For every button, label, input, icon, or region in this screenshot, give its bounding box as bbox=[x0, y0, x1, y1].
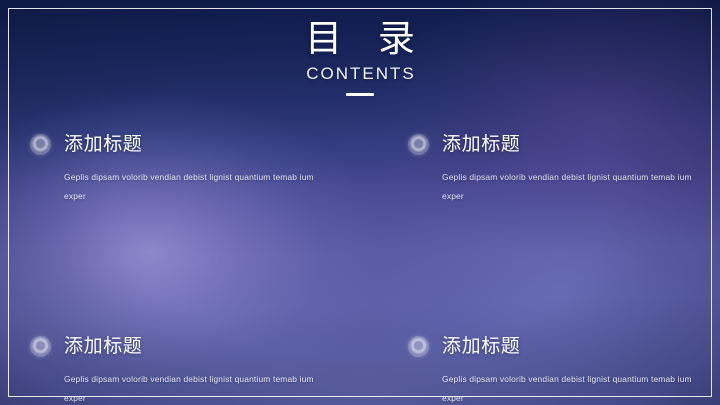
contents-row-1: 添加标题 Geplis dipsam volorib vendian debis… bbox=[0, 131, 720, 206]
contents-item-3[interactable]: 添加标题 Geplis dipsam volorib vendian debis… bbox=[0, 333, 360, 405]
contents-item-4-head: 添加标题 bbox=[408, 333, 720, 359]
slide-header: 目 录 CONTENTS bbox=[0, 17, 720, 96]
contents-item-4[interactable]: 添加标题 Geplis dipsam volorib vendian debis… bbox=[360, 333, 720, 405]
contents-grid: 添加标题 Geplis dipsam volorib vendian debis… bbox=[0, 131, 720, 405]
contents-item-3-title: 添加标题 bbox=[64, 333, 142, 359]
contents-item-4-title: 添加标题 bbox=[442, 333, 520, 359]
contents-item-2-body: Geplis dipsam volorib vendian debist lig… bbox=[442, 168, 692, 206]
contents-slide: 目 录 CONTENTS 添加标题 Geplis dipsam volorib … bbox=[0, 0, 720, 405]
ring-circle-icon bbox=[408, 134, 429, 155]
ring-circle-icon bbox=[30, 134, 51, 155]
ring-circle-icon bbox=[30, 336, 51, 357]
page-title-english: CONTENTS bbox=[0, 63, 720, 84]
contents-item-2[interactable]: 添加标题 Geplis dipsam volorib vendian debis… bbox=[360, 131, 720, 206]
contents-item-3-head: 添加标题 bbox=[30, 333, 360, 359]
contents-item-4-body: Geplis dipsam volorib vendian debist lig… bbox=[442, 370, 692, 405]
contents-item-1[interactable]: 添加标题 Geplis dipsam volorib vendian debis… bbox=[0, 131, 360, 206]
contents-item-3-body: Geplis dipsam volorib vendian debist lig… bbox=[64, 370, 314, 405]
page-title-chinese: 目 录 bbox=[0, 17, 720, 60]
contents-item-2-title: 添加标题 bbox=[442, 131, 520, 157]
contents-item-1-title: 添加标题 bbox=[64, 131, 142, 157]
contents-item-2-head: 添加标题 bbox=[408, 131, 720, 157]
contents-item-1-body: Geplis dipsam volorib vendian debist lig… bbox=[64, 168, 314, 206]
title-divider-rule bbox=[346, 93, 374, 96]
ring-circle-icon bbox=[408, 336, 429, 357]
contents-item-1-head: 添加标题 bbox=[30, 131, 360, 157]
contents-row-2: 添加标题 Geplis dipsam volorib vendian debis… bbox=[0, 333, 720, 405]
